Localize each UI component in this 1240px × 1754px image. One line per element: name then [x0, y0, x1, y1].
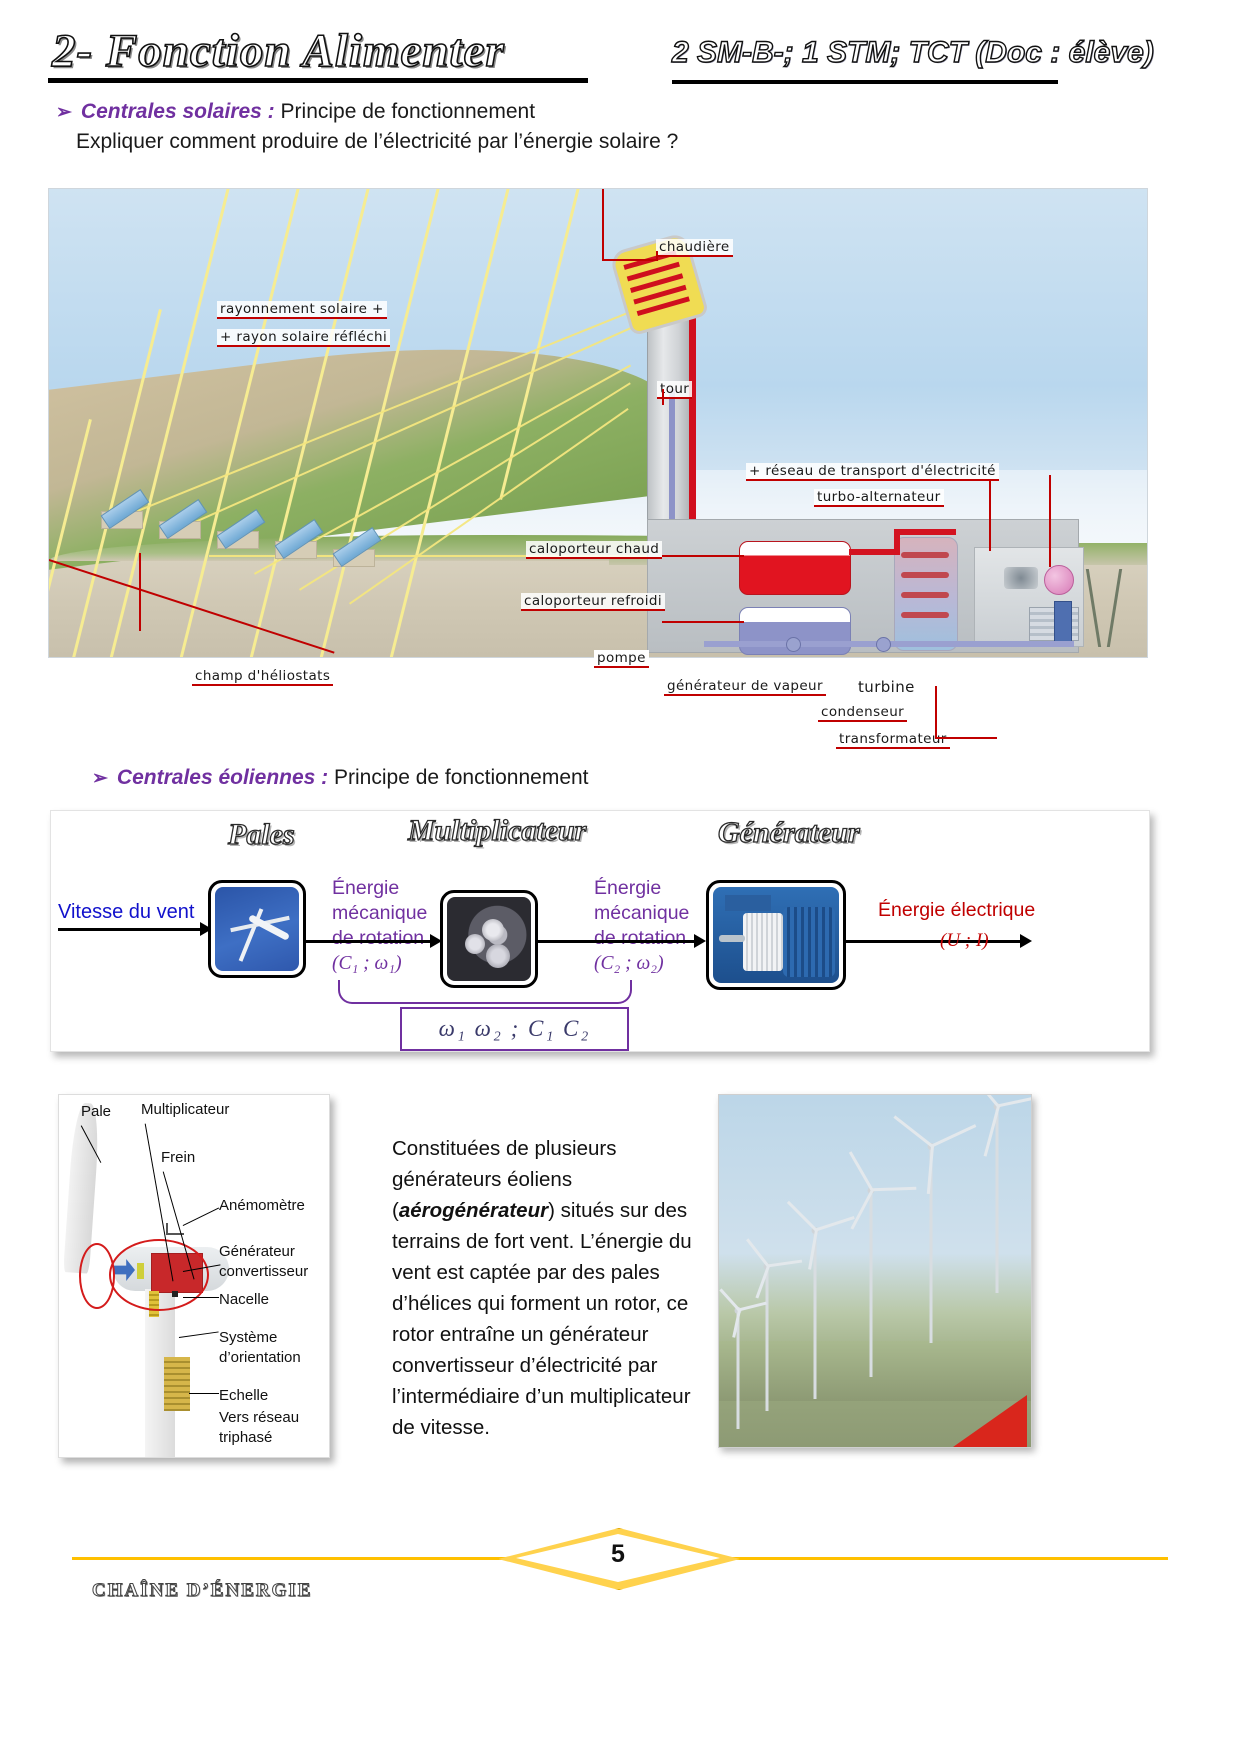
nacelle-label-vers-reseau: Vers réseau: [219, 1409, 299, 1426]
chain-output-sublabel: (U ; I): [940, 928, 989, 953]
flow1-line1: Énergie: [332, 876, 427, 901]
label-condenseur: condenseur: [818, 704, 907, 722]
solar-plant-diagram: rayonnement solaire + + rayon solaire ré…: [48, 188, 1148, 658]
label-pompe: pompe: [594, 650, 649, 668]
leader-line: [989, 481, 991, 551]
leader-line: [935, 686, 937, 738]
solar-bullet: ➢Centrales solaires : Principe de foncti…: [56, 100, 535, 124]
chain-title-multiplicateur: Multiplicateur: [408, 814, 586, 848]
flow2-line1: Énergie: [594, 876, 689, 901]
wind-description-paragraph: Constituées de plusieurs générateurs éol…: [392, 1133, 692, 1443]
flow2-line3: de rotation: [594, 926, 689, 951]
label-chaudiere: chaudière: [656, 239, 733, 257]
page-header: 2- Fonction Alimenter 2 SM-B-; 1 STM; TC…: [0, 0, 1240, 92]
alternator: [1044, 565, 1074, 595]
flow2-line4: (C₂ ; ω₂): [594, 951, 689, 976]
chain-box-generateur: [706, 880, 846, 990]
page-title: 2- Fonction Alimenter: [52, 24, 505, 78]
leader-line: [602, 188, 604, 259]
flow1-line2: mécanique: [332, 901, 427, 926]
wind-heading: Centrales éoliennes :: [117, 766, 328, 789]
nacelle-label-frein: Frein: [161, 1149, 195, 1166]
leader-line: [662, 621, 744, 623]
footer-label: CHAÎNE D’ÉNERGIE: [92, 1580, 312, 1602]
leader-line: [1049, 475, 1051, 567]
bullet-arrow-icon: ➢: [92, 768, 108, 789]
nacelle-diagram: Pale Multiplicateur Frein Anémomètre Gén…: [58, 1094, 330, 1458]
chain-arrow: [844, 940, 1026, 943]
turbine: [1004, 567, 1038, 589]
transmission-pylon: [1089, 569, 1119, 647]
pump: [786, 637, 801, 652]
nacelle-label-convertisseur: convertisseur: [219, 1263, 308, 1280]
nacelle-label-orientation: d’orientation: [219, 1349, 301, 1366]
label-rayon-reflechi: + rayon solaire réfléchi: [217, 329, 390, 347]
label-caloporteur-refroidi: caloporteur refroidi: [521, 593, 665, 611]
leader-line: [662, 389, 664, 405]
title-underline: [48, 78, 588, 83]
flow2-line2: mécanique: [594, 901, 689, 926]
nacelle-label-pale: Pale: [81, 1103, 111, 1120]
leader-line: [183, 1208, 220, 1227]
photo-turbine: [905, 1143, 957, 1343]
chain-formula-box: ω₁ ω₂ ; C₁ C₂: [400, 1007, 629, 1051]
gearbox-photo: [447, 897, 531, 981]
leader-line: [935, 737, 997, 739]
chain-box-multiplicateur: [440, 890, 538, 988]
page-number: 5: [498, 1540, 738, 1569]
solar-heading-rest: Principe de fonctionnement: [281, 100, 536, 123]
chain-box-pales: [208, 880, 306, 978]
leader-line: [189, 1393, 219, 1394]
nacelle-label-systeme: Système: [219, 1329, 277, 1346]
steam-generator: [894, 537, 958, 651]
nacelle-label-nacelle: Nacelle: [219, 1291, 269, 1308]
label-champ-heliostats: champ d'héliostats: [192, 668, 333, 686]
wind-turbine-photo: [215, 887, 299, 971]
leader-line: [656, 251, 658, 261]
steam-pipe: [894, 529, 956, 535]
label-rayonnement: rayonnement solaire +: [217, 301, 387, 319]
label-turbo-alternateur: turbo-alternateur: [814, 489, 944, 507]
photo-turbine: [721, 1307, 755, 1429]
wind-heading-rest: Principe de fonctionnement: [334, 766, 589, 789]
flow1-line3: de rotation: [332, 926, 427, 951]
flow1-line4: (C₁ ; ω₁): [332, 951, 427, 976]
steam-pipe: [849, 549, 899, 555]
wind-farm-photo: [718, 1094, 1032, 1448]
ladder-icon: [164, 1357, 190, 1411]
nacelle-label-anemometre: Anémomètre: [219, 1197, 305, 1214]
bullet-arrow-icon: ➢: [56, 102, 72, 123]
chain-title-pales: Pales: [228, 818, 295, 852]
photo-red-corner: [953, 1395, 1027, 1447]
chain-flow1: Énergie mécanique de rotation (C₁ ; ω₁): [332, 876, 427, 976]
chain-input-label: Vitesse du vent: [58, 900, 194, 925]
chain-output-label: Énergie électrique: [878, 898, 1035, 923]
chain-arrow-head-icon: [694, 934, 706, 948]
leader-line: [183, 1297, 219, 1298]
transformer: [1054, 601, 1072, 643]
photo-turbine: [969, 1103, 1025, 1293]
chain-title-generateur: Générateur: [718, 816, 860, 850]
photo-turbine: [847, 1187, 895, 1377]
highlight-ellipse: [109, 1239, 209, 1311]
nacelle-label-multiplicateur: Multiplicateur: [141, 1101, 229, 1118]
nacelle-label-echelle: Echelle: [219, 1387, 268, 1404]
chain-flow2: Énergie mécanique de rotation (C₂ ; ω₂): [594, 876, 689, 976]
label-reseau: + réseau de transport d'électricité: [746, 463, 999, 481]
wind-bullet: ➢Centrales éoliennes : Principe de fonct…: [92, 766, 589, 790]
chain-arrow: [58, 928, 206, 931]
leader-line: [179, 1331, 219, 1338]
label-transformateur: transformateur: [836, 731, 950, 749]
nacelle-label-generateur: Générateur: [219, 1243, 295, 1260]
class-info-underline: [672, 80, 1058, 84]
chain-brace: [338, 980, 632, 1004]
chain-arrow-head-icon: [1020, 934, 1032, 948]
leader-line: [662, 555, 744, 557]
class-info: 2 SM-B-; 1 STM; TCT (Doc : élève): [672, 36, 1154, 70]
leader-line: [139, 553, 141, 631]
label-caloporteur-chaud: caloporteur chaud: [526, 541, 662, 559]
solar-heading: Centrales solaires :: [81, 100, 275, 123]
chain-arrow: [304, 940, 436, 943]
label-turbine: turbine: [855, 678, 918, 696]
hot-storage-tank: [739, 541, 851, 595]
leader-line: [602, 259, 658, 261]
chain-arrow: [536, 940, 700, 943]
photo-turbine: [793, 1227, 837, 1399]
pump: [876, 637, 891, 652]
label-generateur-vapeur: générateur de vapeur: [664, 678, 826, 696]
solar-question: Expliquer comment produire de l’électric…: [76, 130, 678, 154]
generator-photo: [713, 887, 839, 983]
nacelle-label-triphase: triphasé: [219, 1429, 272, 1446]
